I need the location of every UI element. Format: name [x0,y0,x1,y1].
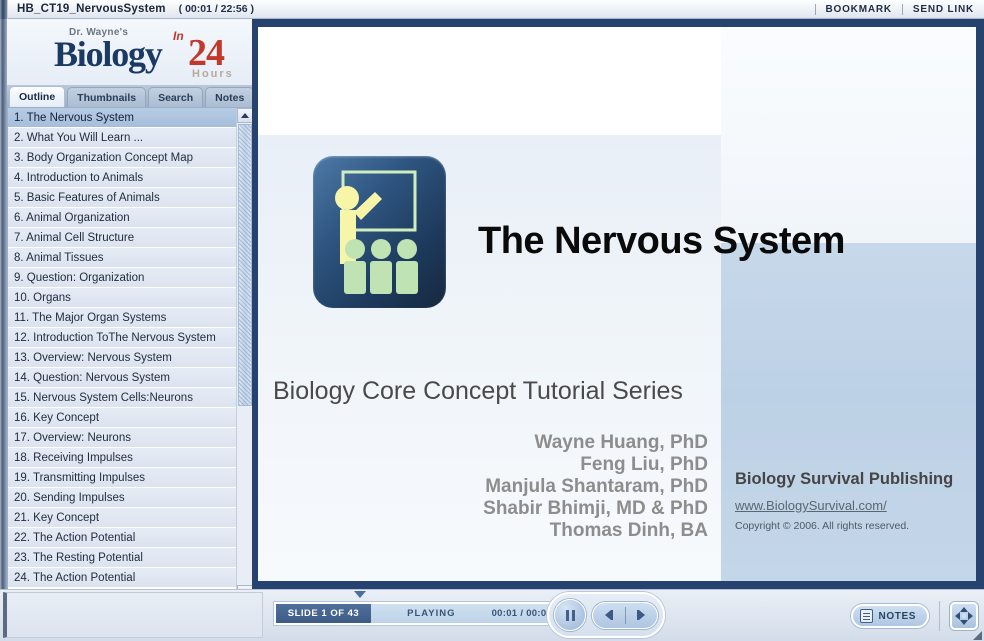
outline-item[interactable]: 23. The Resting Potential [8,548,236,568]
slide-counter[interactable]: SLIDE 1 OF 43 [276,604,371,623]
outline-item[interactable]: 18. Receiving Impulses [8,448,236,468]
bottom-right-controls: NOTES [851,590,978,641]
notepad-icon [860,609,873,623]
tab-thumbnails[interactable]: Thumbnails [67,87,146,107]
previous-slide-button[interactable] [593,603,625,628]
tab-label: Search [158,92,193,104]
chevron-up-icon [241,113,249,118]
title-bar: HB_CT19_NervousSystem ( 00:01 / 22:56 ) … [0,0,984,19]
copyright-text: Copyright © 2006. All rights reserved. [735,520,970,532]
outline-item[interactable]: 22. The Action Potential [8,528,236,548]
bookmark-button[interactable]: BOOKMARK [816,4,902,15]
slide-viewer-frame: The Nervous System Biology Core Concept … [252,19,984,589]
slide-canvas[interactable]: The Nervous System Biology Core Concept … [258,27,976,581]
panel-tab-row: OutlineThumbnailsSearchNotes [7,85,252,107]
author-line: Wayne Huang, PhD [378,432,708,454]
document-title: HB_CT19_NervousSystem [17,3,166,15]
outline-item[interactable]: 16. Key Concept [8,408,236,428]
player-status-bar[interactable]: SLIDE 1 OF 43 PLAYING 00:01 / 00:04 [274,602,564,625]
publisher-block: Biology Survival Publishing www.BiologyS… [735,470,970,532]
slide-title: The Nervous System [478,220,976,263]
scroll-up-button[interactable] [237,108,253,123]
tab-label: Outline [19,91,55,103]
outline-item[interactable]: 11. The Major Organ Systems [8,308,236,328]
tab-label: Notes [215,92,244,104]
author-line: Feng Liu, PhD [378,454,708,476]
outline-item[interactable]: 20. Sending Impulses [8,488,236,508]
tab-search[interactable]: Search [148,87,203,107]
outline-item[interactable]: 8. Animal Tissues [8,248,236,268]
notes-button-label: NOTES [879,611,916,622]
control-divider [939,601,940,631]
pause-button[interactable] [554,599,586,631]
outline-item[interactable]: 12. Introduction ToThe Nervous System [8,328,236,348]
transport-panel: SLIDE 1 OF 43 PLAYING 00:01 / 00:04 [267,590,671,641]
playback-state-label: PLAYING [371,608,492,619]
outline-item[interactable]: 9. Question: Organization [8,268,236,288]
author-line: Shabir Bhimji, MD & PhD [378,498,708,520]
teacher-icon-art [313,156,446,308]
previous-icon-bar [611,610,613,620]
document-elapsed-time: ( 00:01 / 22:56 ) [179,3,254,15]
bottom-left-panel [3,592,263,638]
pause-icon-bar [572,610,575,621]
pause-icon-bar [566,610,569,621]
notes-button[interactable]: NOTES [851,604,929,628]
outline-item[interactable]: 5. Basic Features of Animals [8,188,236,208]
slide-header-band [258,27,721,135]
author-line: Thomas Dinh, BA [378,520,708,542]
publisher-url-link[interactable]: www.BiologySurvival.com/ [735,498,970,513]
brand-logo: Dr. Wayne's Biology In 24 Hours [7,19,252,85]
outline-scrollbar[interactable] [236,108,252,600]
window-resize-grip[interactable] [973,631,982,640]
logo-inner: Dr. Wayne's Biology In 24 Hours [54,25,244,85]
step-controls [592,602,658,629]
window-grip [0,0,8,19]
expand-arrows-icon [952,604,976,628]
send-link-button[interactable]: SEND LINK [903,4,984,15]
outline-item[interactable]: 24. The Action Potential [8,568,236,588]
outline-panel: 1. The Nervous System2. What You Will Le… [7,107,252,601]
slide-author-list: Wayne Huang, PhDFeng Liu, PhDManjula Sha… [378,432,708,542]
player-bottom-bar: SLIDE 1 OF 43 PLAYING 00:01 / 00:04 [0,589,984,641]
outline-item[interactable]: 14. Question: Nervous System [8,368,236,388]
transport-controls [547,592,665,638]
teacher-classroom-icon [313,156,446,308]
outline-item[interactable]: 10. Organs [8,288,236,308]
outline-item[interactable]: 15. Nervous System Cells:Neurons [8,388,236,408]
tab-outline[interactable]: Outline [9,86,65,107]
outline-item[interactable]: 6. Animal Organization [8,208,236,228]
fullscreen-button[interactable] [950,602,978,630]
outline-item[interactable]: 13. Overview: Nervous System [8,348,236,368]
logo-in-text: In [173,29,184,43]
outline-item[interactable]: 3. Body Organization Concept Map [8,148,236,168]
outline-item[interactable]: 1. The Nervous System [8,108,236,128]
outline-item[interactable]: 17. Overview: Neurons [8,428,236,448]
outline-list[interactable]: 1. The Nervous System2. What You Will Le… [8,108,236,600]
outline-item[interactable]: 2. What You Will Learn ... [8,128,236,148]
outline-item[interactable]: 19. Transmitting Impulses [8,468,236,488]
tab-notes[interactable]: Notes [205,87,254,107]
author-line: Manjula Shantaram, PhD [378,476,708,498]
outline-item[interactable]: 4. Introduction to Animals [8,168,236,188]
tab-label: Thumbnails [77,92,136,104]
logo-hours-text: Hours [192,68,234,80]
logo-main-text: Biology [54,33,162,75]
slide-position-marker-icon [354,591,366,598]
publisher-name: Biology Survival Publishing [735,470,970,489]
outline-item[interactable]: 21. Key Concept [8,508,236,528]
presentation-player-window: HB_CT19_NervousSystem ( 00:01 / 22:56 ) … [0,0,984,641]
next-icon [639,610,645,620]
panel-resize-edge[interactable] [0,19,7,589]
next-slide-button[interactable] [626,603,658,628]
left-navigation-panel: Dr. Wayne's Biology In 24 Hours OutlineT… [0,19,252,589]
slide-series-subtitle: Biology Core Concept Tutorial Series [273,377,683,406]
scrollbar-thumb[interactable] [238,124,252,406]
outline-item[interactable]: 7. Animal Cell Structure [8,228,236,248]
